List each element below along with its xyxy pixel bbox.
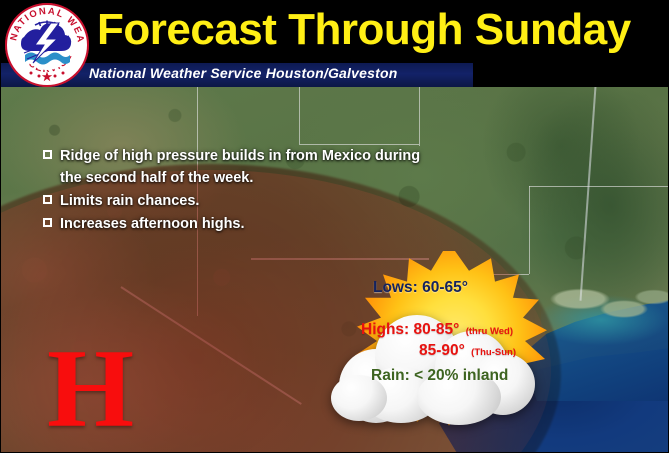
forecast-graphic: Ridge of high pressure builds in from Me… [0, 0, 669, 453]
logo-artwork: NATIONAL WEATHER SERVICE [5, 3, 89, 87]
highs-value: 85-90° [419, 342, 465, 359]
highs-label: Highs: [361, 321, 409, 338]
page-title: Forecast Through Sunday [97, 4, 663, 56]
list-item: Increases afternoon highs. [43, 213, 443, 235]
forecast-bullet-list: Ridge of high pressure builds in from Me… [43, 145, 443, 236]
bullet-text: Increases afternoon highs. [60, 213, 443, 235]
header-bar: Forecast Through Sunday National Weather… [1, 1, 669, 87]
lows-label: Lows: [373, 279, 418, 296]
highs-value: 80-85° [414, 321, 460, 338]
rain-value: < 20% inland [414, 367, 508, 384]
bullet-square-icon [43, 195, 52, 204]
office-subtitle: National Weather Service Houston/Galvest… [89, 65, 397, 81]
state-border-vertical-2 [299, 86, 300, 144]
highs-readout-1: Highs: 80-85° (thru Wed) [361, 321, 513, 339]
bullet-text: Ridge of high pressure builds in from Me… [60, 145, 443, 189]
nws-logo: NATIONAL WEATHER SERVICE [5, 3, 89, 87]
bullet-text: Limits rain chances. [60, 190, 443, 212]
high-pressure-symbol: H [47, 339, 134, 439]
bullet-square-icon [43, 150, 52, 159]
highs-readout-2: 85-90° (Thu-Sun) [419, 342, 516, 360]
lows-value: 60-65° [422, 279, 468, 296]
list-item: Limits rain chances. [43, 190, 443, 212]
highs-note: (Thu-Sun) [471, 347, 516, 358]
lows-readout: Lows: 60-65° [373, 279, 468, 297]
highs-note: (thru Wed) [466, 326, 513, 337]
state-border-vertical-4 [419, 86, 420, 146]
state-border-horizontal-3 [529, 186, 669, 187]
bullet-square-icon [43, 218, 52, 227]
rain-readout: Rain: < 20% inland [371, 367, 508, 385]
list-item: Ridge of high pressure builds in from Me… [43, 145, 443, 189]
rain-label: Rain: [371, 367, 410, 384]
